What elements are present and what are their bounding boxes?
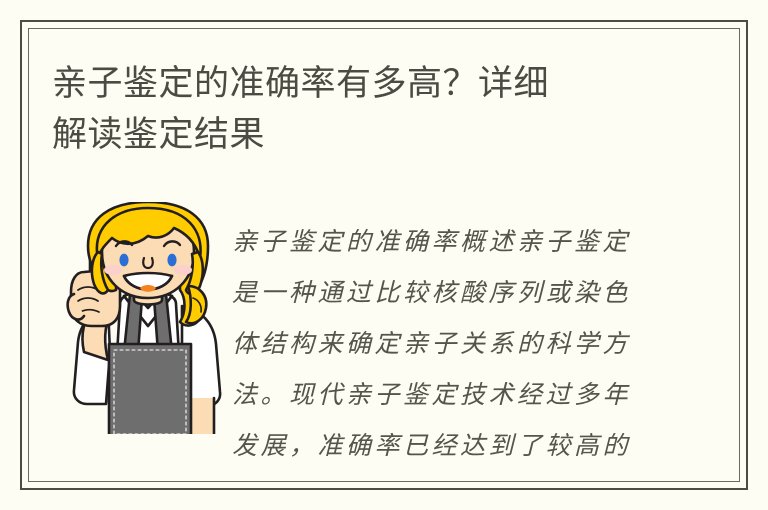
pointing-woman-illustration (62, 202, 232, 434)
cheek-right (174, 265, 192, 275)
article-body: 亲子鉴定的准确率概述亲子鉴定是一种通过比较核酸序列或染色体结构来确定亲子关系的科… (232, 216, 652, 471)
apron-body (109, 344, 191, 434)
cheek-left (104, 265, 122, 275)
article-card: 亲子鉴定的准确率有多高？详细 解读鉴定结果 (0, 0, 768, 510)
eye-left (119, 254, 128, 267)
page-title: 亲子鉴定的准确率有多高？详细 解读鉴定结果 (52, 58, 672, 160)
eye-right (167, 254, 176, 267)
right-forearm (190, 398, 214, 434)
